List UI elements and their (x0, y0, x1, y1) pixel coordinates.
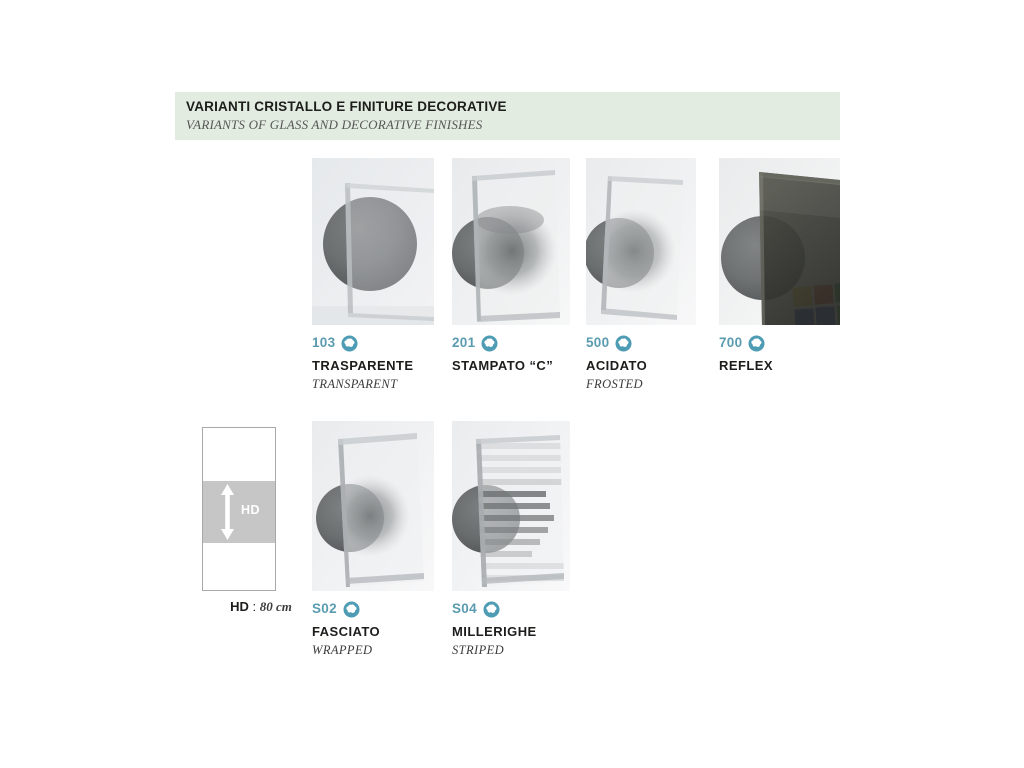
frosted-glass-photo (586, 158, 696, 325)
hd-double-arrow-icon (219, 484, 236, 540)
fasciato-glass-illustration (312, 421, 434, 591)
hd-band-label: HD (241, 503, 260, 517)
page-subtitle: VARIANTS OF GLASS AND DECORATIVE FINISHE… (186, 117, 482, 133)
finish-code-row-s02: S02 (312, 600, 434, 618)
finish-code: S02 (312, 602, 337, 616)
finish-card-103[interactable]: 103 TRASPARENTE TRANSPARENT (312, 158, 434, 391)
finish-name-en: WRAPPED (312, 643, 434, 657)
finish-card-201[interactable]: 201 STAMPATO “C” (452, 158, 570, 377)
finish-name-it: FASCIATO (312, 625, 434, 640)
glass-finish-badge-icon (343, 601, 360, 618)
finish-name-en: FROSTED (586, 377, 696, 391)
finish-card-700[interactable]: 700 REFLEX (719, 158, 840, 377)
page-title: VARIANTI CRISTALLO E FINITURE DECORATIVE (186, 99, 507, 114)
stampato-c-glass-photo (452, 158, 570, 325)
hd-band (203, 481, 275, 543)
finish-name-it: ACIDATO (586, 359, 696, 374)
fasciato-glass-photo (312, 421, 434, 591)
finish-card-s02[interactable]: S02 FASCIATO WRAPPED (312, 421, 434, 657)
finish-name-it: REFLEX (719, 359, 840, 374)
finish-code-row-500: 500 (586, 334, 696, 352)
glass-finish-badge-icon (615, 335, 632, 352)
hd-caption-value: 80 cm (260, 599, 292, 614)
finish-name-it: MILLERIGHE (452, 625, 570, 640)
finish-code: 500 (586, 336, 609, 350)
millerighe-glass-photo (452, 421, 570, 591)
finish-code-row-700: 700 (719, 334, 840, 352)
finish-code: 700 (719, 336, 742, 350)
finish-code: S04 (452, 602, 477, 616)
hd-caption-key: HD (230, 599, 249, 614)
transparent-glass-photo (312, 158, 434, 325)
finish-name-en: TRANSPARENT (312, 377, 434, 391)
transparent-glass-illustration (312, 158, 434, 325)
finish-card-500[interactable]: 500 ACIDATO FROSTED (586, 158, 696, 391)
finish-code-row-103: 103 (312, 334, 434, 352)
glass-finish-badge-icon (341, 335, 358, 352)
finish-code-row-201: 201 (452, 334, 570, 352)
finish-card-s04[interactable]: S04 MILLERIGHE STRIPED (452, 421, 570, 657)
reflex-glass-illustration (719, 158, 840, 325)
finish-code: 201 (452, 336, 475, 350)
frosted-glass-illustration (586, 158, 696, 325)
millerighe-glass-illustration (452, 421, 570, 591)
hd-caption-separator: : (249, 599, 260, 614)
glass-finish-badge-icon (481, 335, 498, 352)
finish-code-row-s04: S04 (452, 600, 570, 618)
glass-finish-badge-icon (483, 601, 500, 618)
finish-name-en: STRIPED (452, 643, 570, 657)
finish-name-it: TRASPARENTE (312, 359, 434, 374)
hd-dimension-diagram: HD (202, 427, 276, 591)
finish-name-it: STAMPATO “C” (452, 359, 570, 374)
reflex-glass-photo (719, 158, 840, 325)
glass-finish-badge-icon (748, 335, 765, 352)
hd-caption: HD : 80 cm (196, 599, 326, 615)
stampato-c-glass-illustration (452, 158, 570, 325)
finish-code: 103 (312, 336, 335, 350)
section-header-band: VARIANTI CRISTALLO E FINITURE DECORATIVE… (175, 92, 840, 140)
